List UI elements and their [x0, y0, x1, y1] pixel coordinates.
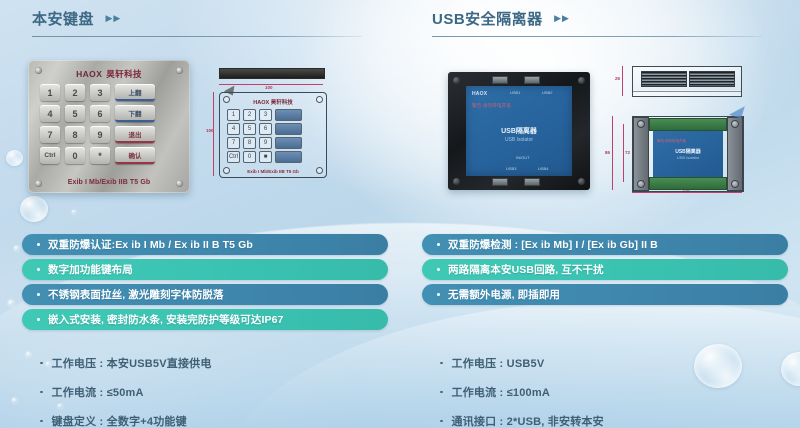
bullet-dot-icon	[37, 243, 40, 246]
isolator-screw-tr	[578, 77, 585, 84]
isolator-io-label: IN/OUT	[516, 155, 530, 160]
section-divider	[432, 36, 762, 37]
drawing-side-view	[632, 66, 742, 92]
drawing-side-foot	[632, 90, 742, 97]
feature-text: 嵌入式安装, 密封防水条, 安装完防护等级可达IP67	[48, 312, 283, 327]
drawing-key: 9	[259, 137, 272, 149]
keypad-key: 1	[40, 84, 60, 101]
feature-text: 两路隔离本安USB回路, 互不干扰	[448, 262, 604, 277]
drawing-key: ■	[259, 151, 272, 163]
keypad-key-fn: 确认	[115, 147, 155, 164]
isolator-port-top-left	[492, 76, 508, 84]
keypad-key-fn: 下翻	[115, 105, 155, 122]
keypad-key-fn: 退出	[115, 126, 155, 143]
keypad-key-fn: 上翻	[115, 84, 155, 101]
chevron-right-icon: ▶▶	[554, 13, 570, 24]
dimension-label-side: 26	[615, 76, 620, 81]
keypad-certification-label: Exib I Mb/Exib IIB T5 Gb	[28, 179, 190, 186]
keypad-key: 3	[90, 84, 110, 101]
drawing-brand: HAOX 昊轩科技	[220, 98, 326, 106]
keypad-key: 8	[65, 126, 85, 143]
isolator-faceplate: HAOX 警告:请勿带电开盖 USB1 USB2 USB隔离器 USB Isol…	[466, 86, 572, 176]
drawing-screw-tl	[637, 120, 645, 128]
feature-pill: 不锈钢表面拉丝, 激光雕刻字体防脱落	[22, 284, 388, 305]
dimension-line-side-height	[622, 66, 623, 96]
isolator-port-label-top-left: USB1	[510, 90, 520, 95]
feature-text: 无需额外电源, 即插即用	[448, 287, 560, 302]
drawing-key-fn	[275, 137, 302, 149]
isolator-warning-label: 警告:请勿带电开盖	[472, 103, 511, 109]
technical-drawing-isolator: 26 86 72 105 警告:请勿带电开盖 USB隔离器 USB Isolat…	[604, 58, 794, 196]
drawing-screw-bl	[637, 180, 645, 188]
isolator-port-top-right	[524, 76, 540, 84]
column-keypad: 本安键盘 ▶▶ HAOX昊轩科技 1 2 3 上翻 4 5 6 下翻 7	[0, 0, 400, 428]
spec-list-keypad: 工作电压 : 本安USB5V直接供电 工作电流 : ≤50mA 键盘定义 : 全…	[40, 352, 380, 428]
keypad-screw-tr	[176, 67, 183, 74]
drawing-warning-label: 警告:请勿带电开盖	[657, 139, 686, 144]
drawing-terminal-bar-top	[649, 118, 727, 131]
bullet-dot-icon	[440, 420, 443, 423]
drawing-faceplate: 警告:请勿带电开盖 USB隔离器 USB Isolator	[653, 131, 723, 177]
spec-text: 工作电流 : ≤50mA	[52, 384, 144, 400]
chevron-right-icon: ▶▶	[105, 13, 121, 24]
isolator-port-bottom-left	[492, 178, 508, 186]
feature-pill: 两路隔离本安USB回路, 互不干扰	[422, 259, 788, 280]
spec-text: 通讯接口 : 2*USB, 非安转本安	[452, 413, 604, 428]
bullet-dot-icon	[40, 362, 43, 365]
drawing-screw-br	[731, 180, 739, 188]
drawing-side-view	[219, 68, 325, 79]
drawing-front-view: 警告:请勿带电开盖 USB隔离器 USB Isolator	[632, 116, 744, 192]
drawing-screw-tr	[316, 96, 323, 103]
drawing-key: 5	[243, 123, 256, 135]
keypad-key: 5	[65, 105, 85, 122]
bullet-dot-icon	[440, 391, 443, 394]
isolator-screw-bl	[453, 178, 460, 185]
drawing-key: 1	[227, 109, 240, 121]
spec-text: 工作电流 : ≤100mA	[452, 384, 551, 400]
bullet-dot-icon	[437, 293, 440, 296]
product-photo-isolator: HAOX 警告:请勿带电开盖 USB1 USB2 USB隔离器 USB Isol…	[448, 72, 590, 190]
feature-pill: 双重防爆认证:Ex ib I Mb / Ex ib II B T5 Gb	[22, 234, 388, 255]
feature-pill: 数字加功能键布局	[22, 259, 388, 280]
bullet-dot-icon	[437, 243, 440, 246]
drawing-key: Ctrl	[227, 151, 240, 163]
isolator-logo: HAOX	[472, 91, 487, 97]
drawing-terminal-bar-bottom	[649, 177, 727, 190]
spec-row: 通讯接口 : 2*USB, 非安转本安	[440, 410, 780, 428]
feature-text: 双重防爆认证:Ex ib I Mb / Ex ib II B T5 Gb	[48, 237, 253, 252]
keypad-key: 2	[65, 84, 85, 101]
dimension-line-inner-height	[623, 124, 624, 182]
spec-list-isolator: 工作电压 : USB5V 工作电流 : ≤100mA 通讯接口 : 2*USB,…	[440, 352, 780, 428]
feature-pill: 双重防爆检测 : [Ex ib Mb] I / [Ex ib Gb] II B	[422, 234, 788, 255]
isolator-screw-tl	[453, 77, 460, 84]
product-photo-keypad: HAOX昊轩科技 1 2 3 上翻 4 5 6 下翻 7 8 9 退出 Ctrl…	[28, 60, 190, 193]
drawing-vent-left	[641, 71, 687, 87]
section-header-keypad: 本安键盘 ▶▶	[32, 8, 368, 37]
spec-row: 工作电流 : ≤50mA	[40, 381, 380, 403]
spec-row: 工作电压 : USB5V	[440, 352, 780, 374]
keypad-key: *	[90, 147, 110, 164]
isolator-port-bottom-right	[524, 178, 540, 186]
drawing-key: 4	[227, 123, 240, 135]
drawing-front-view: HAOX 昊轩科技 1 2 3 4 5 6 7 8	[219, 92, 327, 178]
page-title-isolator: USB安全隔离器	[432, 8, 543, 29]
bullet-dot-icon	[37, 293, 40, 296]
keypad-key: 9	[90, 126, 110, 143]
drawing-key-fn	[275, 151, 302, 163]
drawing-key: 8	[243, 137, 256, 149]
drawing-brand-en: HAOX	[253, 100, 269, 106]
page-title-keypad: 本安键盘	[32, 8, 94, 29]
spec-text: 工作电压 : 本安USB5V直接供电	[52, 355, 212, 371]
keypad-screw-tl	[35, 67, 42, 74]
slide-canvas: 本安键盘 ▶▶ HAOX昊轩科技 1 2 3 上翻 4 5 6 下翻 7	[0, 0, 800, 428]
keypad-key: 0	[65, 147, 85, 164]
isolator-product-name-cn: USB隔离器	[466, 126, 572, 136]
dimension-line-left	[213, 92, 214, 176]
section-divider	[32, 36, 362, 37]
feature-text: 数字加功能键布局	[48, 262, 133, 277]
spec-row: 工作电压 : 本安USB5V直接供电	[40, 352, 380, 374]
spec-row: 键盘定义 : 全数字+4功能键	[40, 410, 380, 428]
keypad-key: 4	[40, 105, 60, 122]
dimension-label-outer-height: 86	[605, 150, 610, 155]
drawing-key-grid: 1 2 3 4 5 6 7 8 9 Ctrl 0 ■	[227, 109, 320, 163]
drawing-key: 6	[259, 123, 272, 135]
drawing-key-fn	[275, 123, 302, 135]
drawing-key: 7	[227, 137, 240, 149]
feature-pill: 无需额外电源, 即插即用	[422, 284, 788, 305]
isolator-port-label-bottom-right: USB4	[538, 166, 548, 171]
drawing-key: 0	[243, 151, 256, 163]
technical-drawing-keypad: 100 100 HAOX 昊轩科技 1 2 3 4 5	[205, 62, 345, 190]
drawing-certification-label: Exib I Mb/Exib IIB T5 Gb	[220, 169, 326, 174]
bullet-dot-icon	[40, 391, 43, 394]
spec-text: 工作电压 : USB5V	[452, 355, 545, 371]
drawing-key-fn	[275, 109, 302, 121]
section-header-isolator: USB安全隔离器 ▶▶	[432, 8, 768, 37]
keypad-brand-en: HAOX	[76, 69, 102, 79]
dimension-label-height: 100	[206, 128, 214, 133]
dimension-line-outer-height	[612, 116, 613, 190]
keypad-key: 6	[90, 105, 110, 122]
bullet-dot-icon	[37, 318, 40, 321]
drawing-key: 3	[259, 109, 272, 121]
drawing-brand-cn: 昊轩科技	[271, 100, 293, 106]
drawing-product-name-en: USB Isolator	[653, 155, 723, 160]
keypad-key-grid: 1 2 3 上翻 4 5 6 下翻 7 8 9 退出 Ctrl 0 * 确认	[40, 84, 180, 164]
keypad-key: 7	[40, 126, 60, 143]
feature-list-keypad: 双重防爆认证:Ex ib I Mb / Ex ib II B T5 Gb 数字加…	[22, 234, 388, 334]
keypad-brand: HAOX昊轩科技	[28, 68, 190, 80]
feature-text: 双重防爆检测 : [Ex ib Mb] I / [Ex ib Gb] II B	[448, 237, 658, 252]
drawing-key: 2	[243, 109, 256, 121]
dimension-label-width: 100	[265, 85, 273, 90]
keypad-brand-cn: 昊轩科技	[106, 69, 142, 79]
bullet-dot-icon	[40, 420, 43, 423]
feature-list-isolator: 双重防爆检测 : [Ex ib Mb] I / [Ex ib Gb] II B …	[422, 234, 788, 309]
bullet-dot-icon	[437, 268, 440, 271]
isolator-screw-br	[578, 178, 585, 185]
keypad-key: Ctrl	[40, 147, 60, 164]
bullet-dot-icon	[37, 268, 40, 271]
bullet-dot-icon	[440, 362, 443, 365]
spec-row: 工作电流 : ≤100mA	[440, 381, 780, 403]
isolator-port-label-top-right: USB2	[542, 90, 552, 95]
drawing-vent-right	[689, 71, 735, 87]
isolator-product-name-en: USB Isolator	[466, 137, 572, 143]
dimension-label-inner-height: 72	[625, 150, 630, 155]
isolator-port-label-bottom-left: USB3	[506, 166, 516, 171]
feature-pill: 嵌入式安装, 密封防水条, 安装完防护等级可达IP67	[22, 309, 388, 330]
spec-text: 键盘定义 : 全数字+4功能键	[52, 413, 187, 428]
feature-text: 不锈钢表面拉丝, 激光雕刻字体防脱落	[48, 287, 224, 302]
